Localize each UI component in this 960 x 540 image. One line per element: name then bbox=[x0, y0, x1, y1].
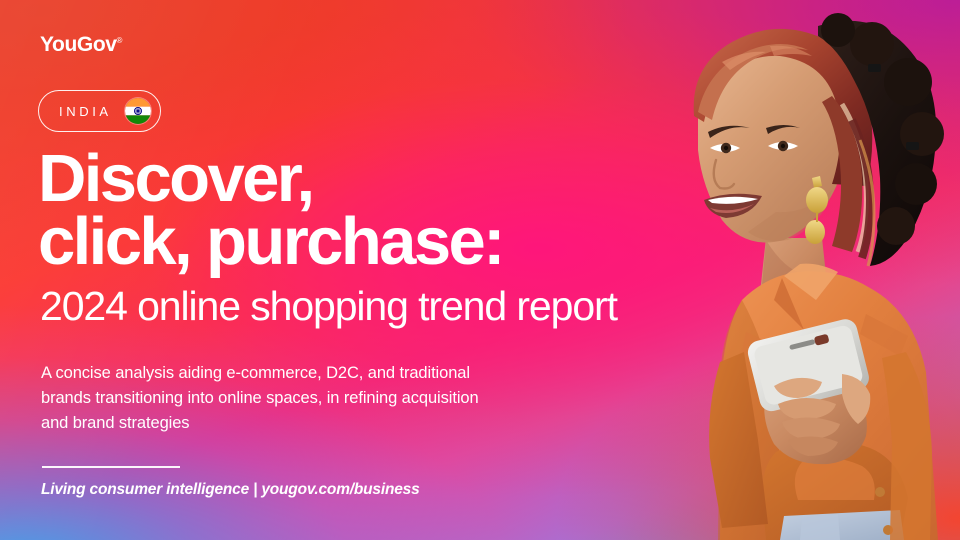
india-flag-circle-icon bbox=[125, 98, 151, 124]
registered-mark: ® bbox=[117, 36, 123, 45]
page-subtitle: 2024 online shopping trend report bbox=[40, 284, 640, 328]
headline-line-2: click, purchase: bbox=[38, 211, 638, 274]
page-title: Discover, click, purchase: bbox=[38, 148, 638, 274]
footer-tagline: Living consumer intelligence | yougov.co… bbox=[41, 481, 419, 500]
country-badge: INDIA bbox=[38, 90, 161, 132]
description-text: A concise analysis aiding e-commerce, D2… bbox=[41, 361, 481, 436]
country-badge-label: INDIA bbox=[59, 105, 112, 118]
slide-content: YouGov® INDIA bbox=[0, 0, 660, 540]
yougov-logo[interactable]: YouGov® bbox=[40, 34, 122, 55]
presentation-slide: YouGov® INDIA bbox=[0, 0, 960, 540]
footer-divider bbox=[42, 466, 180, 468]
logo-wordmark: YouGov bbox=[40, 33, 117, 56]
